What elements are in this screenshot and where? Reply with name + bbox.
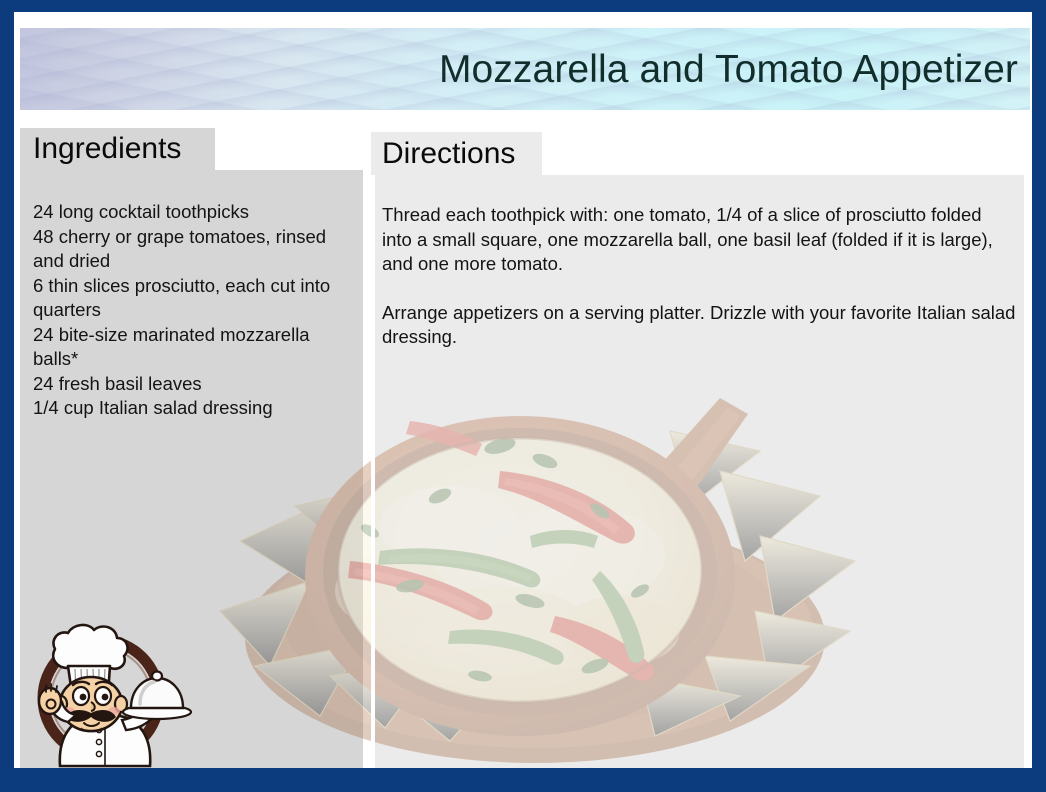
title-banner: Mozzarella and Tomato Appetizer <box>20 28 1030 110</box>
directions-paragraph: Arrange appetizers on a serving platter.… <box>382 301 1016 350</box>
directions-paragraph: Thread each toothpick with: one tomato, … <box>382 203 1016 277</box>
column-divider <box>371 175 375 768</box>
food-photo <box>200 376 860 768</box>
directions-header-block: Directions <box>371 132 542 175</box>
chef-mascot-logo <box>28 616 194 768</box>
ingredients-heading: Ingredients <box>33 132 181 165</box>
ingredient-item: 24 bite-size marinated mozzarella balls* <box>33 323 357 372</box>
slide-content-area: Mozzarella and Tomato Appetizer Ingredie… <box>14 12 1032 768</box>
recipe-slide: Mozzarella and Tomato Appetizer Ingredie… <box>0 0 1046 792</box>
page-title: Mozzarella and Tomato Appetizer <box>439 50 1018 89</box>
ingredient-item: 48 cherry or grape tomatoes, rinsed and … <box>33 225 357 274</box>
ingredients-header-block: Ingredients <box>20 128 215 170</box>
ingredient-item: 6 thin slices prosciutto, each cut into … <box>33 274 357 323</box>
directions-heading: Directions <box>382 137 515 170</box>
ingredient-item: 24 long cocktail toothpicks <box>33 200 357 225</box>
